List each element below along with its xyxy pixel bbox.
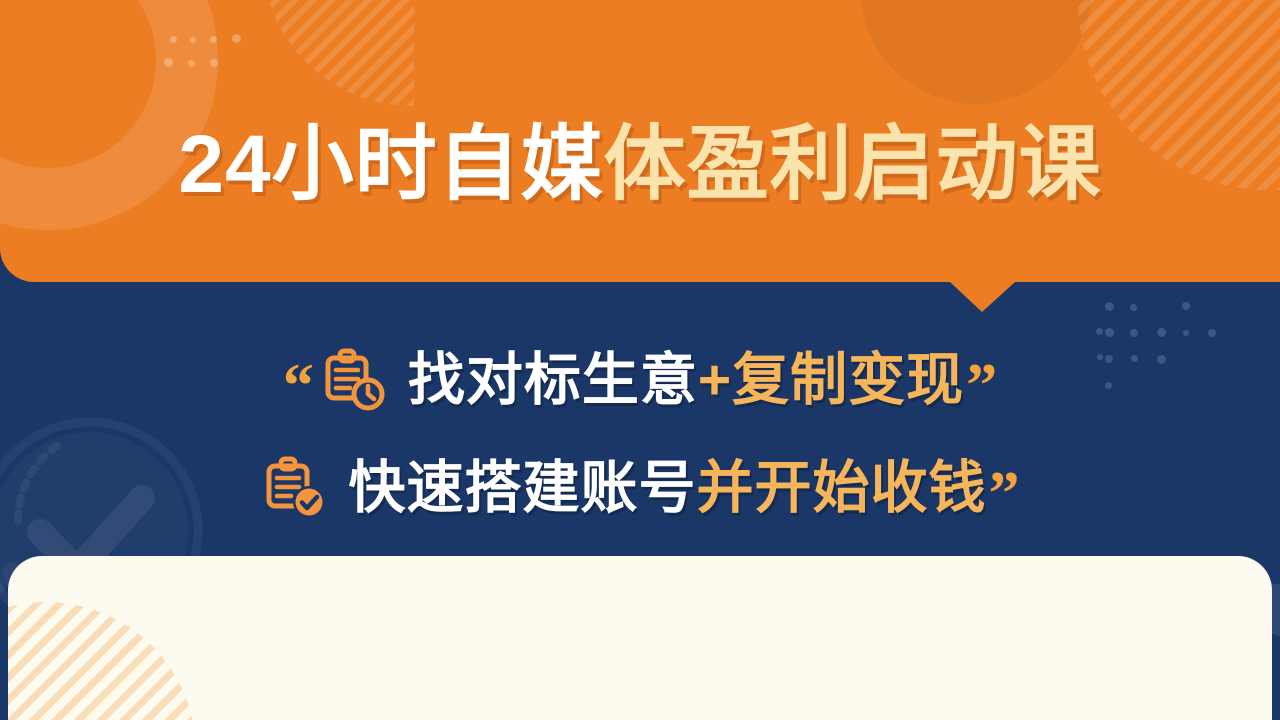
quote-close-1: ”	[966, 355, 997, 417]
bullet-list: “ 找对标生意+复制变现 ”	[0, 326, 1280, 542]
title-segment-white: 24小时自媒	[178, 119, 603, 210]
header-speech-bubble: 24小时自媒体盈利启动课	[0, 0, 1280, 320]
bullet-2-white-segment: 快速搭建账号	[349, 456, 697, 520]
bullet-text-1: 找对标生意+复制变现	[408, 352, 964, 409]
quote-close-2: ”	[989, 463, 1020, 525]
title-segment-cream: 体盈利启动课	[604, 119, 1102, 210]
bullet-row-1: “ 找对标生意+复制变现 ”	[0, 326, 1280, 434]
content-card	[8, 556, 1272, 720]
striped-circle-decoration	[8, 602, 196, 720]
quote-open-1: “	[283, 355, 314, 417]
bullet-2-gold-segment: 并开始收钱	[697, 456, 987, 520]
page-title: 24小时自媒体盈利启动课	[0, 124, 1280, 206]
promo-poster: 24小时自媒体盈利启动课	[0, 0, 1280, 720]
clipboard-check-icon	[261, 454, 329, 522]
bullet-row-2: 快速搭建账号并开始收钱 ”	[0, 434, 1280, 542]
bullet-1-white-segment: 找对标生意	[408, 348, 698, 412]
clipboard-clock-icon	[320, 346, 388, 414]
bullet-1-gold-segment: +复制变现	[698, 348, 964, 412]
bullet-text-2: 快速搭建账号并开始收钱	[349, 460, 987, 517]
